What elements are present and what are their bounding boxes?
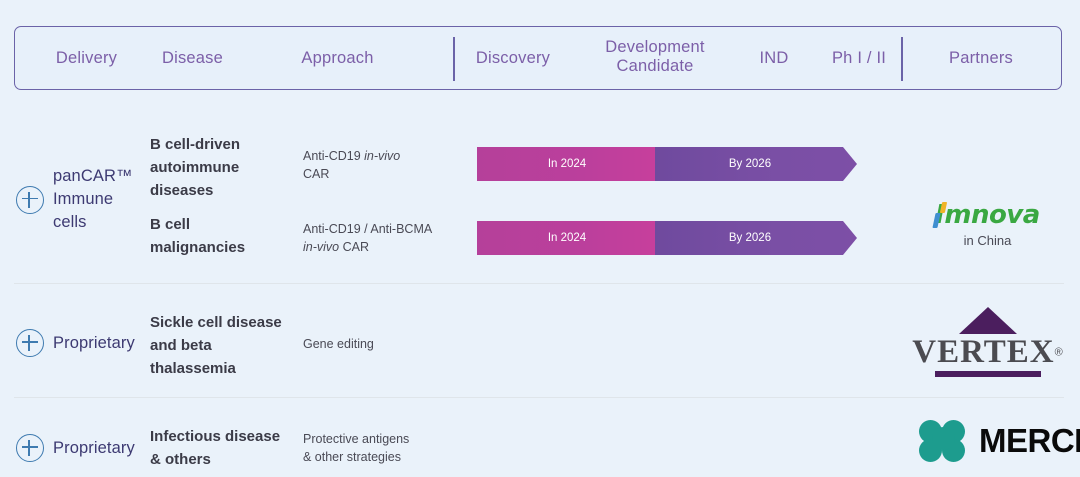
approach-text-part2: CAR — [339, 240, 369, 254]
approach-text-part2: CAR — [303, 167, 329, 181]
pipeline-chart: { "colors": { "background": "#eaf2fa", "… — [0, 0, 1080, 477]
imnova-wordmark: Imnova — [935, 200, 1040, 230]
delivery-label: panCAR™ Immune cells — [53, 165, 133, 234]
header-col-ph-i-ii: Ph I / II — [811, 49, 907, 68]
imnova-logo: Imnova — [935, 200, 1040, 230]
delivery-cell-proprietary-vertex: Proprietary — [16, 329, 135, 357]
approach-text-part: Anti-CD19 — [303, 149, 364, 163]
registered-mark: ® — [1055, 347, 1063, 359]
merck-clover-icon — [918, 420, 968, 462]
approach-text-part: Anti-CD19 / Anti-BCMA — [303, 222, 432, 236]
header-separator-1 — [453, 37, 455, 81]
stage-segment-early[interactable]: In 2024 — [477, 147, 669, 181]
expand-plus-icon[interactable] — [16, 186, 44, 214]
stage-bar-b-cell-autoimmune: In 2024 By 2026 — [477, 147, 857, 181]
header-col-disease: Disease — [135, 49, 250, 68]
header-separator-2 — [901, 37, 903, 81]
approach-cell-b-cell-malignancies: Anti-CD19 / Anti-BCMA in-vivo CAR — [303, 220, 483, 256]
stage-segment-early-label: In 2024 — [548, 232, 598, 244]
expand-plus-icon[interactable] — [16, 329, 44, 357]
pipeline-header: Delivery Disease Approach Discovery Deve… — [14, 26, 1062, 90]
vertex-underbar — [935, 371, 1041, 377]
partner-cell-imnova: Imnova in China — [905, 200, 1070, 248]
approach-text-part2: & other strategies — [303, 450, 401, 464]
stage-segment-late[interactable]: By 2026 — [655, 147, 857, 181]
stage-segment-early[interactable]: In 2024 — [477, 221, 669, 255]
row-divider-2 — [14, 397, 1064, 398]
stage-segment-late-label: By 2026 — [729, 158, 783, 170]
partner-cell-vertex: VERTEX® — [905, 307, 1070, 377]
header-col-approach: Approach — [280, 49, 395, 68]
header-col-ind: IND — [733, 49, 815, 68]
delivery-label: Proprietary — [53, 332, 135, 355]
stage-segment-late-label: By 2026 — [729, 232, 783, 244]
approach-text-part: Protective antigens — [303, 432, 409, 446]
disease-cell-b-cell-malignancies: B cell malignancies — [150, 213, 310, 259]
stage-bar-b-cell-malignancies: In 2024 By 2026 — [477, 221, 857, 255]
partner-region-label: in China — [905, 233, 1070, 248]
delivery-cell-pancar: panCAR™ Immune cells — [16, 165, 133, 234]
merck-center-cutout — [932, 427, 955, 450]
partner-cell-merck: MERCK — [918, 420, 1078, 462]
delivery-label: Proprietary — [53, 437, 135, 460]
vertex-triangle-icon — [959, 307, 1017, 334]
disease-cell-b-cell-autoimmune: B cell-driven autoimmune diseases — [150, 133, 310, 202]
header-col-discovery: Discovery — [458, 49, 568, 68]
approach-cell-sickle-cell: Gene editing — [303, 335, 463, 353]
merck-logo: MERCK — [918, 420, 1078, 462]
vertex-name-text: VERTEX — [912, 334, 1054, 370]
expand-plus-icon[interactable] — [16, 434, 44, 462]
approach-italic-part: in-vivo — [364, 149, 400, 163]
stage-segment-late[interactable]: By 2026 — [655, 221, 857, 255]
vertex-wordmark: VERTEX® — [905, 334, 1070, 370]
delivery-cell-proprietary-merck: Proprietary — [16, 434, 135, 462]
header-col-development-candidate: Development Candidate — [580, 38, 730, 76]
approach-italic-part: in-vivo — [303, 240, 339, 254]
header-col-partners: Partners — [911, 49, 1051, 68]
row-divider-1 — [14, 283, 1064, 284]
stage-segment-early-label: In 2024 — [548, 158, 598, 170]
header-col-delivery: Delivery — [29, 49, 144, 68]
approach-cell-infectious-disease: Protective antigens & other strategies — [303, 430, 483, 466]
merck-wordmark: MERCK — [979, 424, 1080, 458]
approach-text-part: Gene editing — [303, 337, 374, 351]
approach-cell-b-cell-autoimmune: Anti-CD19 in-vivo CAR — [303, 147, 463, 183]
